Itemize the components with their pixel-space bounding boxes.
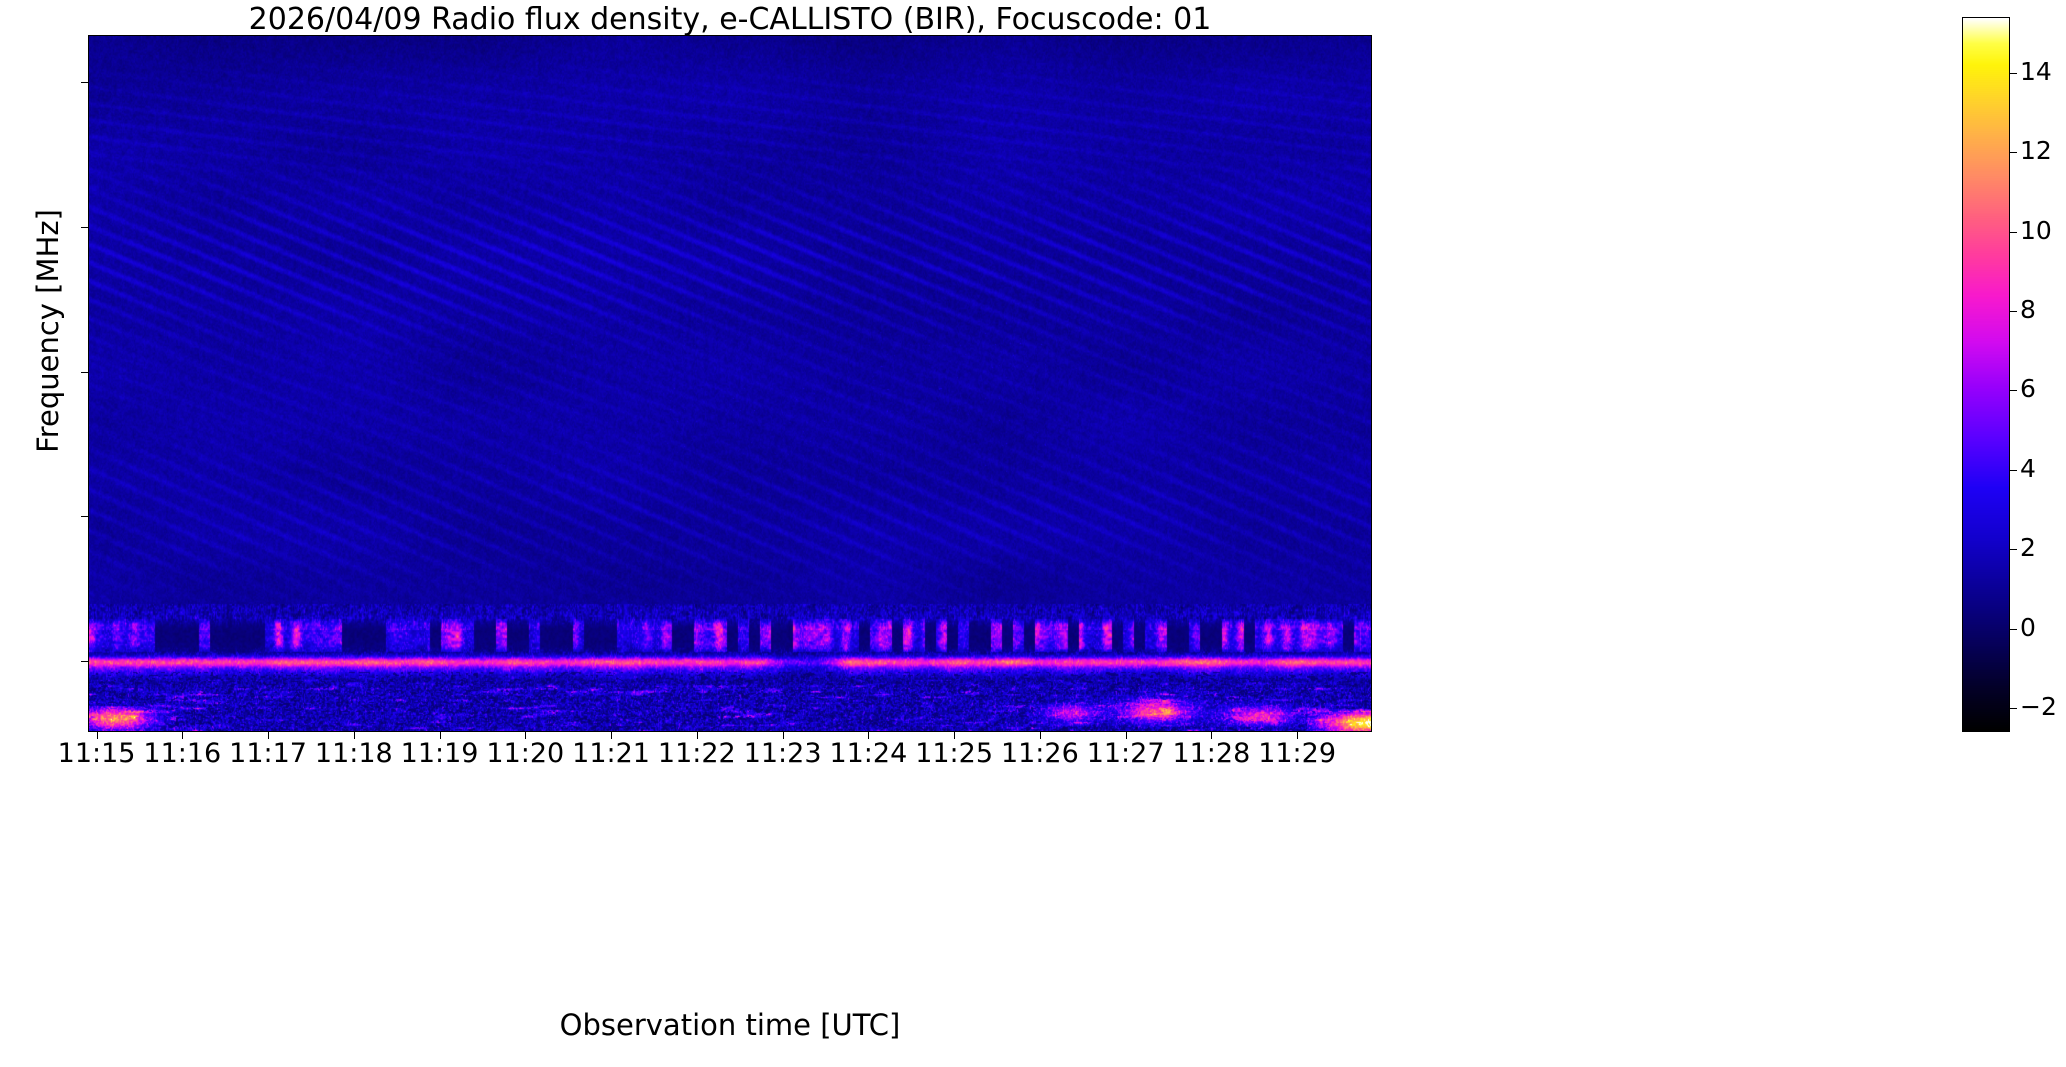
x-tick-mark [1211,732,1212,739]
x-tick-mark [525,732,526,739]
colorbar-tick-label: 6 [2020,374,2036,403]
colorbar-tick-mark [2010,311,2017,312]
x-tick-mark [783,732,784,739]
y-tick-mark [81,516,88,517]
x-tick-mark [182,732,183,739]
x-tick-mark [868,732,869,739]
colorbar-tick-mark [2010,470,2017,471]
x-tick-mark [954,732,955,739]
y-axis-label: Frequency [MHz] [31,131,65,531]
x-tick-mark [1040,732,1041,739]
colorbar-tick-label: 14 [2020,57,2052,86]
colorbar-tick-mark [2010,549,2017,550]
colorbar-tick-label: 2 [2020,533,2036,562]
colorbar-tick-mark [2010,390,2017,391]
colorbar-tick-label: 10 [2020,216,2052,245]
y-tick-mark [81,661,88,662]
colorbar-gradient [1963,18,2009,731]
x-tick-label: 11:29 [1227,738,1367,769]
colorbar-tick-label: 8 [2020,295,2036,324]
page-title: 2026/04/09 Radio flux density, e-CALLIST… [88,2,1372,37]
spectrogram-axes [88,35,1372,732]
x-axis-label: Observation time [UTC] [88,1008,1372,1042]
x-tick-mark [1126,732,1127,739]
colorbar-tick-mark [2010,73,2017,74]
x-tick-mark [697,732,698,739]
colorbar-tick-label: 12 [2020,136,2052,165]
x-tick-mark [268,732,269,739]
x-tick-mark [611,732,612,739]
colorbar-tick-label: 0 [2020,613,2036,642]
colorbar-tick-mark [2010,629,2017,630]
spectrogram-figure: 2026/04/09 Radio flux density, e-CALLIST… [0,0,2066,1067]
colorbar-tick-mark [2010,708,2017,709]
x-tick-mark [1297,732,1298,739]
colorbar-tick-mark [2010,232,2017,233]
x-tick-mark [440,732,441,739]
colorbar-tick-label: −2 [2020,692,2057,721]
x-tick-mark [97,732,98,739]
spectrogram-image [89,36,1371,731]
colorbar-tick-label: 4 [2020,454,2036,483]
x-tick-mark [354,732,355,739]
y-tick-mark [81,82,88,83]
colorbar [1962,17,2010,732]
y-tick-mark [81,227,88,228]
colorbar-tick-mark [2010,152,2017,153]
y-tick-mark [81,372,88,373]
